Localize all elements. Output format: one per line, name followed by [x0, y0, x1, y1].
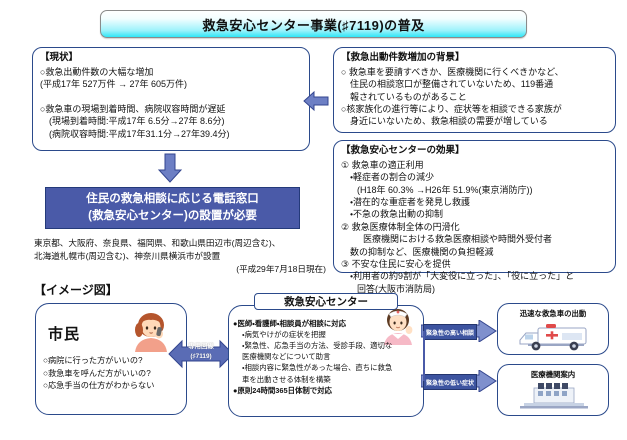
center-service-line: ●医師・看護師・相談員が相談に対応	[233, 318, 423, 329]
page-title-banner: 救急安心センター事業(♯7119)の普及	[100, 10, 527, 38]
background-panel: 【救急出動件数増加の背景】 ○ 救急車を要請すべきか、医療機関に行くべきかなど、…	[333, 47, 616, 133]
current-status-line: ○救急出動件数の大幅な増加	[40, 66, 302, 78]
prefecture-line-2: 北海道札幌市(周辺含む)、神奈川県横浜市が設置	[34, 250, 334, 263]
prefecture-line-1: 東京都、大阪府、奈良県、福岡県、和歌山県田辺市(周辺含む)、	[34, 237, 334, 250]
effects-line: ・軽症者の割合の減少	[341, 171, 608, 183]
left-pointing-arrow-icon	[303, 88, 329, 114]
infographic-canvas: 救急安心センター事業(♯7119)の普及 【現状】 ○救急出動件数の大幅な増加 …	[0, 0, 627, 440]
effects-line: ・潜在的な重症者を発見し救護	[341, 196, 608, 208]
center-service-line: ・緊急性、応急手当の方法、受診手段、適切な	[233, 340, 423, 351]
effects-line: 数の抑制など、医療機関の負担軽減	[341, 246, 608, 258]
ambulance-icon	[516, 320, 592, 357]
conclusion-line-1: 住民の救急相談に応じる電話窓口	[86, 191, 259, 208]
effects-line: 医療機関における救急医療相談や時間外受付者	[341, 233, 608, 245]
effects-line: ・利用者の約9割が「大変役に立った」、「役に立った」と	[341, 270, 608, 282]
background-line: 身近にいないため、救急相談の需要が増している	[341, 115, 608, 127]
prefecture-note: 東京都、大阪府、奈良県、福岡県、和歌山県田辺市(周辺含む)、 北海道札幌市(周辺…	[34, 237, 334, 276]
center-title-badge: 救急安心センター	[254, 293, 398, 310]
conclusion-box: 住民の救急相談に応じる電話窓口 (救急安心センター)の設置が必要	[45, 187, 300, 229]
current-status-line: (病院収容時間:平成17年31.1分→27年39.4分)	[40, 128, 302, 140]
center-service-line: ・相談内容に緊急性があった場合、直ちに救急	[233, 362, 423, 373]
low-urgency-arrow: 緊急性の低い症状	[421, 370, 497, 392]
effects-line: ② 救急医療体制全体の円滑化	[341, 221, 608, 233]
high-urgency-label: 緊急性の高い相談	[426, 328, 474, 337]
center-title: 救急安心センター	[284, 294, 368, 309]
background-heading: 【救急出動件数増加の背景】	[341, 52, 608, 65]
current-status-line: (現場到着時間:平成17年 6.5分→27年 8.6分)	[40, 115, 302, 127]
current-status-line: ○救急車の現場到着時間、病院収容時間が遅延	[40, 103, 302, 115]
current-status-panel: 【現状】 ○救急出動件数の大幅な増加 (平成17年 527万件 → 27年 60…	[32, 47, 310, 151]
conclusion-line-2: (救急安心センター)の設置が必要	[88, 208, 257, 225]
background-line: ○ 救急車を要請すべきか、医療機関に行くべきかなど、	[341, 66, 608, 78]
prefecture-as-of: (平成29年7月18日現在)	[34, 263, 334, 276]
effects-lines: ① 救急車の適正利用 ・軽症者の割合の減少 (H18年 60.3% →H26年 …	[341, 159, 608, 295]
diagram-heading: 【イメージ図】	[34, 281, 118, 298]
effects-line: ・不急の救急出動の抑制	[341, 208, 608, 220]
center-to-arrows-connector	[423, 331, 425, 381]
medical-institution-guide-box: 医療機関案内	[497, 364, 609, 416]
current-status-line: (平成17年 527万件 → 27年 605万件)	[40, 78, 302, 90]
ambulance-dispatch-box: 迅速な救急車の出動	[497, 303, 609, 355]
medical-institution-guide-label: 医療機関案内	[498, 369, 608, 380]
citizen-question: ○応急手当の仕方がわからない	[43, 380, 185, 393]
hospital-icon	[520, 382, 588, 415]
citizen-question: ○病院に行った方がいいの?	[43, 355, 185, 368]
high-urgency-tag: 緊急性の高い相談	[423, 324, 477, 340]
effects-line: ① 救急車の適正利用	[341, 159, 608, 171]
center-service-list: ●医師・看護師・相談員が相談に対応 ・病気やけがの症状を把握 ・緊急性、応急手当…	[233, 318, 423, 396]
citizen-question-list: ○病院に行った方がいいの? ○救急車を呼んだ方がいいの? ○応急手当の仕方がわか…	[43, 355, 185, 393]
down-pointing-arrow-icon	[155, 153, 185, 183]
page-title: 救急安心センター事業(♯7119)の普及	[202, 15, 424, 34]
background-lines: ○ 救急車を要請すべきか、医療機関に行くべきかなど、 住民の相談窓口が整備されて…	[341, 66, 608, 128]
effects-line: (H18年 60.3% →H26年 51.9%(東京消防庁))	[341, 184, 608, 196]
current-status-spacer	[40, 91, 302, 103]
center-service-line: ・病気やけがの症状を把握	[233, 329, 423, 340]
effects-line: ③ 不安な住民に安心を提供	[341, 258, 608, 270]
low-urgency-tag: 緊急性の低い症状	[423, 374, 477, 390]
background-line: 住民の相談窓口が整備されていないため、119番通	[341, 78, 608, 90]
citizen-question: ○救急車を呼んだ方がいいの?	[43, 368, 185, 381]
center-service-line: 車を出動させる体制を構築	[233, 374, 423, 385]
background-line: 報されているものがあること	[341, 91, 608, 103]
citizen-title: 市民	[48, 323, 80, 344]
dedicated-line-label-1: 専用回線	[168, 342, 234, 352]
center-service-line: 医療機関などについて助言	[233, 351, 423, 362]
current-status-heading: 【現状】	[40, 52, 302, 65]
dedicated-line-label: 専用回線 (♯7119)	[168, 342, 234, 361]
high-urgency-arrow: 緊急性の高い相談	[421, 320, 497, 342]
center-service-line: ●原則24時間365日体制で対応	[233, 385, 423, 396]
effects-heading: 【救急安心センターの効果】	[341, 145, 608, 158]
current-status-lines: ○救急出動件数の大幅な増加 (平成17年 527万件 → 27年 605万件) …	[40, 66, 302, 140]
background-line: ○核家族化の進行等により、症状等を相談できる家族が	[341, 103, 608, 115]
low-urgency-label: 緊急性の低い症状	[426, 378, 474, 387]
dedicated-line-double-arrow-icon: 専用回線 (♯7119)	[168, 337, 234, 371]
dedicated-line-label-2: (♯7119)	[168, 352, 234, 362]
ambulance-dispatch-label: 迅速な救急車の出動	[498, 308, 608, 319]
effects-panel: 【救急安心センターの効果】 ① 救急車の適正利用 ・軽症者の割合の減少 (H18…	[333, 140, 616, 273]
